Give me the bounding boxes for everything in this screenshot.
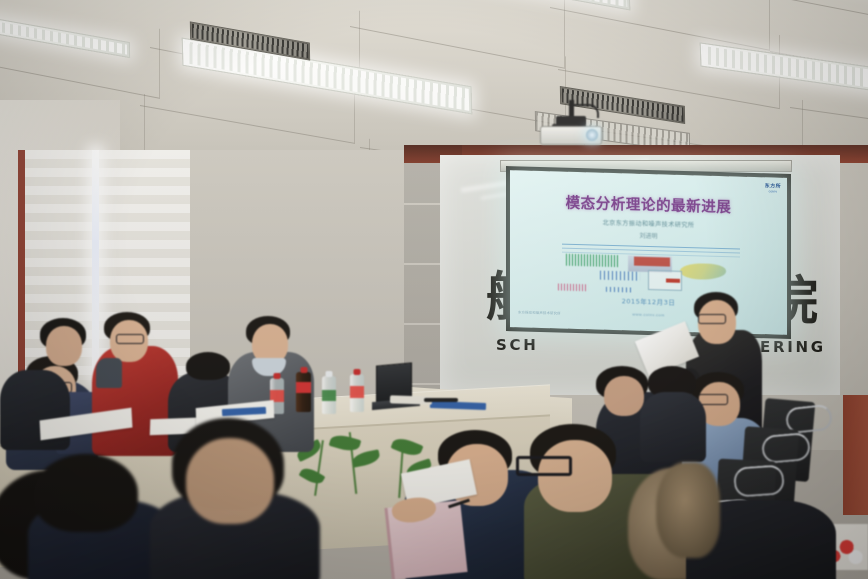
eyeglasses [698,314,726,324]
slide-plot-graphic [606,287,632,293]
slide-date: 2015年12月3日 [510,292,787,310]
slide-waveform-graphic [558,283,588,291]
slide-map-graphic [680,263,726,280]
projection-screen: 东方所 coinv 模态分析理论的最新进展 北京东方振动和噪声技术研究所 刘进明… [506,166,791,339]
slide-logo: 东方所 coinv [765,182,781,193]
slide-footer: 东方振动和噪声技术研究所 [518,309,561,315]
water-bottle[interactable] [322,376,336,414]
slide-waveform-graphic [566,254,618,267]
wall-sign-right-en: ERING [760,338,826,356]
slide-accent-graphic [666,278,680,282]
cola-bottle[interactable] [296,372,311,412]
eyeglasses [516,456,572,476]
slide-plot-graphic [600,271,640,281]
wood-wall-panel [843,395,868,515]
slide-title: 模态分析理论的最新进展 [510,190,787,219]
water-bottle[interactable] [350,374,364,412]
presentation-slide: 东方所 coinv 模态分析理论的最新进展 北京东方振动和噪声技术研究所 刘进明… [510,170,787,335]
fur-hood [656,462,720,558]
wall-sign-left-en: SCH [496,336,538,354]
eyeglasses [116,334,144,344]
projector-lens [586,129,598,141]
cable [424,398,458,402]
slide-banner-graphic [634,257,670,267]
slide-logo-en: coinv [765,189,781,193]
seminar-room-photo: 航 SCH 院 ERING 东方所 coinv 模态分析理论的最新进展 北京东方… [0,0,868,579]
window-light-gap [92,150,99,382]
eyeglasses [698,394,728,405]
